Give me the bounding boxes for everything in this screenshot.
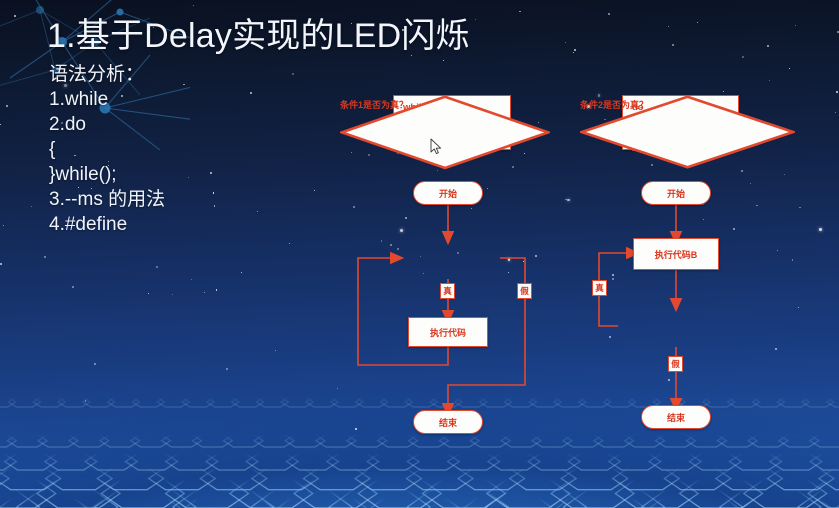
hexagon-cell (486, 479, 569, 508)
star-dot (191, 279, 192, 280)
hexagon-cell (355, 498, 475, 508)
syntax-analysis-list: 语法分析： 1.while 2.do { }while(); 3.--ms 的用… (49, 62, 165, 238)
star-dot (475, 19, 476, 20)
star-dot (156, 266, 158, 268)
star-dot (6, 105, 8, 107)
star-dot (798, 307, 799, 308)
hexagon-cell (7, 435, 47, 448)
hexagon-cell (192, 435, 232, 448)
hexagon-cell (294, 479, 377, 508)
edge-label-true: 真 (440, 283, 455, 299)
star-dot (183, 84, 184, 85)
star-dot (789, 68, 790, 69)
list-item: 1.while (49, 87, 165, 112)
star-dot (94, 363, 96, 365)
star-dot (608, 13, 610, 15)
hexagon-cell (802, 397, 834, 407)
hexagon-cell (132, 397, 164, 407)
edge-label-true: 真 (592, 280, 607, 296)
star-dot (14, 15, 16, 17)
flow-node-condition: 条件2是否为真？ (580, 95, 702, 137)
star-dot (723, 91, 724, 92)
hexagon-cell (231, 397, 263, 407)
star-dot (292, 73, 294, 75)
star-dot (799, 207, 800, 208)
hexagon-cell (229, 479, 312, 508)
hexagon-cell (563, 489, 664, 508)
star-dot (213, 192, 214, 193)
star-dot (767, 45, 769, 47)
mouse-pointer-icon (430, 138, 442, 156)
star-dot (668, 26, 669, 27)
flow-node-label: 执行代码B (655, 248, 698, 261)
star-dot (172, 294, 173, 295)
hexagon-cell (223, 435, 263, 448)
hexagon-cell (358, 479, 441, 508)
star-dot (565, 42, 566, 43)
do-while-loop-flowchart: do { 功能B }while（条件2） 开始 执行代码B 真 条件2是否为真？… (580, 95, 795, 440)
star-dot (289, 243, 290, 244)
hexagon-cell (33, 397, 65, 407)
star-dot (250, 92, 252, 94)
hexagon-cell (82, 397, 114, 407)
star-dot (0, 263, 2, 265)
star-dot (443, 60, 444, 61)
star-dot (210, 172, 212, 174)
hexagon-cell (0, 498, 103, 508)
star-dot (314, 190, 315, 191)
hexagon-cell (37, 479, 120, 508)
presentation-slide: 1.基于Delay实现的LED闪烁 语法分析： 1.while 2.do { }… (0, 0, 839, 508)
hexagon-cell (100, 435, 140, 448)
star-dot (565, 199, 566, 200)
star-dot (574, 49, 576, 51)
edge-label-false: 假 (668, 356, 683, 372)
star-dot (72, 286, 74, 288)
star-dot (567, 199, 570, 202)
hexagon-cell (285, 435, 325, 448)
hexagon-cell (485, 489, 586, 508)
star-dot (769, 80, 770, 81)
star-dot (819, 228, 822, 231)
star-dot (241, 272, 242, 273)
star-dot (188, 177, 189, 178)
hexagon-cell (329, 489, 430, 508)
star-dot (836, 91, 838, 93)
list-item: }while(); (49, 162, 165, 187)
flow-node-label: 条件1是否为真？ (340, 100, 408, 110)
flow-node-label: 条件2是否为真？ (580, 100, 648, 110)
star-dot (697, 22, 698, 23)
star-dot (411, 55, 412, 56)
flow-node-label: 结束 (439, 416, 457, 429)
hexagon-cell (679, 479, 762, 508)
hexagon-cell (281, 397, 313, 407)
while-loop-flowchart: while（条件1） { 功能A } 开始 条件1是否为真？ 真 假 执行代码 … (340, 95, 550, 440)
star-dot (672, 44, 674, 46)
hexagon-cell (69, 435, 109, 448)
star-dot (226, 368, 228, 370)
star-dot (216, 289, 217, 290)
hexagon-cell (130, 435, 170, 448)
slide-title: 1.基于Delay实现的LED闪烁 (47, 19, 470, 55)
star-dot (31, 206, 32, 207)
hexagon-cell (422, 479, 505, 508)
flow-node-condition: 条件1是否为真？ (340, 95, 458, 137)
hexagon-cell (810, 435, 839, 448)
flow-node-action: 执行代码 (408, 317, 488, 347)
list-item: 2.do (49, 112, 165, 137)
flow-node-label: 结束 (667, 411, 685, 424)
star-dot (204, 292, 205, 293)
list-item: { (49, 137, 165, 162)
star-dot (257, 211, 258, 212)
hexagon-cell (8, 397, 40, 407)
flow-node-start: 开始 (413, 181, 483, 205)
flow-node-label: 执行代码 (430, 326, 466, 339)
star-dot (835, 112, 836, 113)
star-dot (193, 5, 194, 6)
star-dot (742, 56, 744, 58)
hexagon-cell (161, 435, 201, 448)
star-dot (519, 11, 520, 12)
flow-node-start: 开始 (641, 181, 711, 205)
star-dot (3, 225, 4, 226)
star-dot (0, 124, 1, 125)
hexagon-cell (0, 479, 55, 508)
hexagon-cell (157, 397, 189, 407)
hexagon-cell (743, 479, 826, 508)
star-dot (573, 52, 574, 53)
edge-label-false: 假 (517, 283, 532, 299)
hexagon-cell (58, 397, 90, 407)
hexagon-cell (95, 489, 196, 508)
star-dot (44, 256, 46, 258)
flow-node-label: 开始 (667, 187, 685, 200)
flow-node-label: 开始 (439, 187, 457, 200)
hexagon-cell (107, 397, 139, 407)
hexagon-cell (206, 397, 238, 407)
star-dot (275, 350, 276, 351)
list-item: 语法分析： (49, 62, 165, 87)
hexagon-cell (38, 435, 78, 448)
star-dot (148, 293, 149, 294)
flow-node-end: 结束 (641, 405, 711, 429)
hexagon-cell (254, 435, 294, 448)
list-item: 4.#define (49, 212, 165, 237)
flow-node-action: 执行代码B (633, 238, 719, 270)
hexagon-cell (256, 397, 288, 407)
hexagon-cell (306, 397, 338, 407)
hexagon-cell (182, 397, 214, 407)
star-dot (795, 25, 796, 26)
list-item: 3.--ms 的用法 (49, 187, 165, 212)
flow-node-end: 结束 (413, 410, 483, 434)
star-dot (214, 205, 215, 206)
